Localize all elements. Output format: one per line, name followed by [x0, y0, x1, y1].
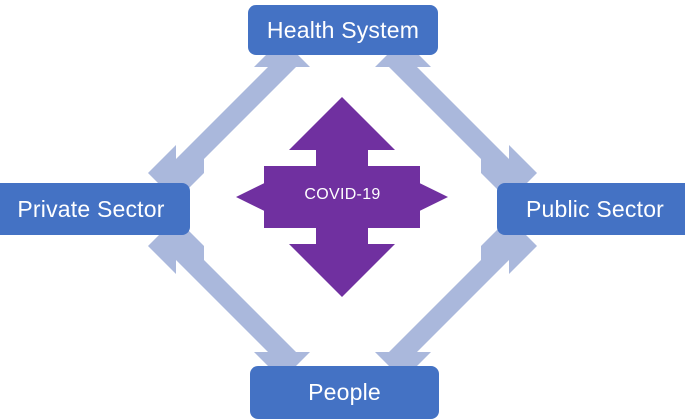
node-health-system-label: Health System	[267, 19, 419, 42]
node-private-sector-label: Private Sector	[17, 198, 164, 221]
node-health-system[interactable]: Health System	[248, 5, 438, 55]
diagram-canvas: COVID-19 Health System Private Sector Pu…	[0, 0, 685, 419]
quad-arrow-shape	[236, 97, 448, 297]
node-public-sector[interactable]: Public Sector	[497, 183, 685, 235]
node-people-label: People	[308, 381, 381, 404]
node-people[interactable]: People	[250, 366, 439, 419]
node-public-sector-label: Public Sector	[526, 198, 664, 221]
node-private-sector[interactable]: Private Sector	[0, 183, 190, 235]
